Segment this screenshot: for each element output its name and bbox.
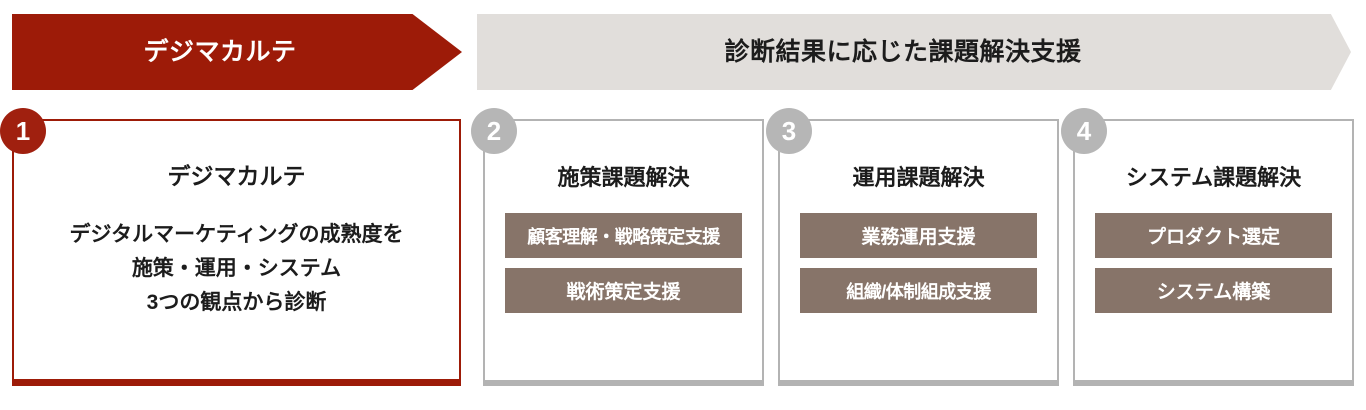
card-tag[interactable]: 顧客理解・戦略策定支援 xyxy=(505,213,742,258)
card-title-4: システム課題解決 xyxy=(1126,167,1301,189)
card-tag[interactable]: 業務運用支援 xyxy=(800,213,1037,258)
card-content: 2 施策課題解決 顧客理解・戦略策定支援 戦術策定支援 xyxy=(485,121,762,380)
card-badge-4: 4 xyxy=(1061,108,1107,154)
card-body-line: デジタルマーケティングの成熟度を xyxy=(70,218,404,252)
card-badge-2: 2 xyxy=(471,108,517,154)
card-tag[interactable]: 組織/体制組成支援 xyxy=(800,268,1037,313)
banner-digima-karte: デジマカルテ xyxy=(12,14,462,90)
card-body-1: デジタルマーケティングの成熟度を 施策・運用・システム 3つの観点から診断 xyxy=(70,218,404,320)
card-row: 1 デジマカルテ デジタルマーケティングの成熟度を 施策・運用・システム 3つの… xyxy=(0,108,1366,398)
banner-secondary-label: 診断結果に応じた課題解決支援 xyxy=(724,40,1081,65)
card-system-solution[interactable]: 4 システム課題解決 プロダクト選定 システム構築 xyxy=(1073,119,1354,386)
card-measure-solution[interactable]: 2 施策課題解決 顧客理解・戦略策定支援 戦術策定支援 xyxy=(483,119,764,386)
card-content: 3 運用課題解決 業務運用支援 組織/体制組成支援 xyxy=(780,121,1057,380)
card-body-line: 施策・運用・システム xyxy=(70,252,404,286)
card-title-2: 施策課題解決 xyxy=(557,167,689,189)
card-tag[interactable]: 戦術策定支援 xyxy=(505,268,742,313)
card-tag[interactable]: プロダクト選定 xyxy=(1095,213,1332,258)
card-tag[interactable]: システム構築 xyxy=(1095,268,1332,313)
card-title-1: デジマカルテ xyxy=(168,165,306,188)
card-title-3: 運用課題解決 xyxy=(852,167,984,189)
banner-solution-support: 診断結果に応じた課題解決支援 xyxy=(477,14,1351,90)
banner-primary-label: デジマカルテ xyxy=(143,40,296,65)
card-tag-list-2: 顧客理解・戦略策定支援 戦術策定支援 xyxy=(485,213,762,313)
card-digima-karte[interactable]: 1 デジマカルテ デジタルマーケティングの成熟度を 施策・運用・システム 3つの… xyxy=(12,119,461,386)
card-operation-solution[interactable]: 3 運用課題解決 業務運用支援 組織/体制組成支援 xyxy=(778,119,1059,386)
card-content: 4 システム課題解決 プロダクト選定 システム構築 xyxy=(1075,121,1352,380)
card-tag-list-4: プロダクト選定 システム構築 xyxy=(1075,213,1352,313)
card-content: 1 デジマカルテ デジタルマーケティングの成熟度を 施策・運用・システム 3つの… xyxy=(14,121,459,379)
card-badge-1: 1 xyxy=(0,108,46,154)
card-body-line: 3つの観点から診断 xyxy=(70,286,404,320)
card-tag-list-3: 業務運用支援 組織/体制組成支援 xyxy=(780,213,1057,313)
card-badge-3: 3 xyxy=(766,108,812,154)
